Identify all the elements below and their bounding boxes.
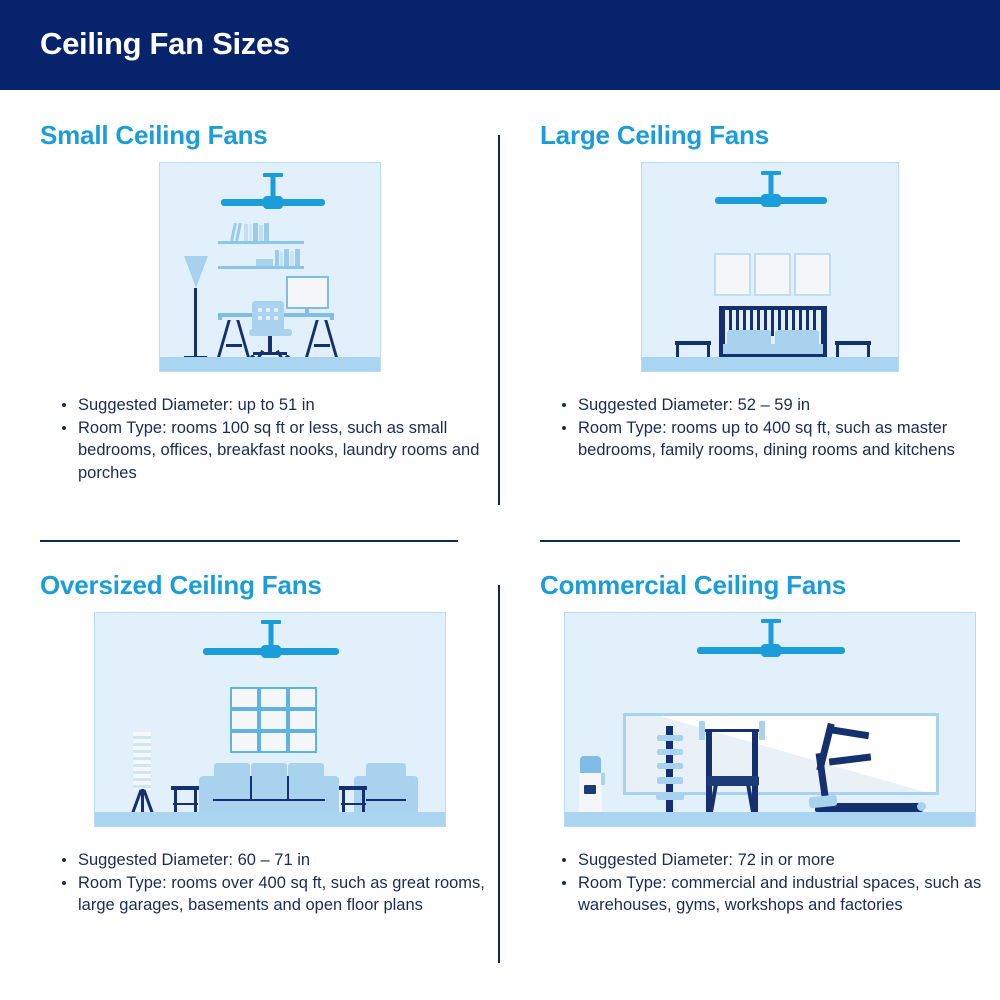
sofa-cushion-divider bbox=[287, 776, 289, 799]
barbell-plate-right bbox=[759, 721, 765, 740]
window-pane bbox=[288, 687, 317, 709]
bullet-item: Suggested Diameter: up to 51 in bbox=[62, 394, 500, 417]
fan-blade-right bbox=[777, 197, 827, 204]
section-title-commercial: Commercial Ceiling Fans bbox=[540, 568, 1000, 602]
side-table-shelf bbox=[341, 803, 366, 805]
fan-blade-right bbox=[277, 648, 339, 655]
ceiling-fan-icon bbox=[218, 173, 328, 213]
floor-strip bbox=[642, 357, 898, 371]
dumbbell bbox=[657, 763, 683, 769]
fan-blade-right bbox=[279, 199, 325, 206]
window-pane bbox=[230, 687, 259, 709]
desk-edge-right bbox=[330, 313, 334, 320]
armchair-arm-right bbox=[404, 776, 418, 814]
bullet-item: Suggested Diameter: 52 – 59 in bbox=[562, 394, 1000, 417]
book bbox=[284, 249, 289, 266]
section-large-ceiling-fans: Large Ceiling Fans bbox=[540, 118, 1000, 462]
ceiling-fan-icon bbox=[203, 620, 339, 664]
dumbbell bbox=[657, 749, 683, 755]
fan-blade-left bbox=[715, 197, 765, 204]
side-table-shelf bbox=[173, 803, 198, 805]
floor-lamp-pole bbox=[194, 288, 197, 359]
floor-strip bbox=[160, 357, 380, 371]
window-pane bbox=[259, 731, 288, 753]
book bbox=[275, 250, 279, 266]
window-pane bbox=[259, 709, 288, 731]
ceiling-fan-icon bbox=[698, 619, 844, 663]
content-grid: Small Ceiling Fans bbox=[0, 90, 1000, 1000]
illustration-wrap-large bbox=[540, 162, 1000, 372]
desk-leg-a-left bbox=[236, 320, 250, 360]
bullet-item: Room Type: rooms over 400 sq ft, such as… bbox=[62, 872, 500, 917]
master-bedroom-room-illustration bbox=[641, 162, 899, 372]
fan-blade-left bbox=[221, 199, 267, 206]
sofa-cushion-back bbox=[214, 763, 250, 790]
desk-leg-a-left bbox=[216, 320, 230, 360]
chair-cylinder bbox=[268, 336, 272, 353]
section-commercial-ceiling-fans: Commercial Ceiling Fans bbox=[540, 568, 1000, 917]
bookshelf-upper bbox=[218, 241, 304, 244]
wall-art-frame bbox=[754, 253, 791, 296]
window-pane bbox=[259, 687, 288, 709]
book bbox=[290, 251, 294, 266]
ceiling-fan-icon bbox=[716, 171, 826, 213]
book bbox=[253, 223, 258, 241]
desk-leg-a-right bbox=[324, 320, 338, 360]
bullet-list-oversized: Suggested Diameter: 60 – 71 in Room Type… bbox=[40, 849, 500, 917]
section-oversized-ceiling-fans: Oversized Ceiling Fans bbox=[40, 568, 500, 917]
desk-leg-a-right bbox=[304, 320, 318, 360]
floor-strip bbox=[565, 812, 975, 826]
book bbox=[244, 224, 248, 241]
page-title: Ceiling Fan Sizes bbox=[40, 26, 290, 62]
water-cooler-bottle bbox=[580, 756, 601, 774]
floor-lamp-shade bbox=[184, 256, 208, 288]
bullet-list-large: Suggested Diameter: 52 – 59 in Room Type… bbox=[540, 394, 1000, 462]
section-title-oversized: Oversized Ceiling Fans bbox=[40, 568, 500, 602]
bed-headboard-slat bbox=[771, 310, 774, 336]
armchair-seat bbox=[366, 789, 406, 814]
page-header: Ceiling Fan Sizes bbox=[0, 0, 1000, 90]
dumbbell bbox=[657, 777, 683, 784]
bullet-item: Suggested Diameter: 72 in or more bbox=[562, 849, 1000, 872]
bench-pad bbox=[707, 776, 759, 786]
armchair-back bbox=[366, 763, 406, 791]
water-cooler-spout bbox=[601, 773, 605, 785]
illustration-wrap-oversized bbox=[40, 612, 500, 827]
dumbbell bbox=[656, 792, 684, 800]
window-pane bbox=[288, 709, 317, 731]
wall-art-frame bbox=[714, 253, 751, 296]
section-title-small: Small Ceiling Fans bbox=[40, 118, 500, 152]
illustration-wrap-commercial bbox=[540, 612, 1000, 827]
section-small-ceiling-fans: Small Ceiling Fans bbox=[40, 118, 500, 484]
water-cooler-body bbox=[579, 773, 602, 816]
floor-lamp-shade bbox=[133, 732, 151, 790]
book bbox=[280, 252, 283, 266]
desk-leg-brace-left bbox=[226, 344, 242, 347]
window-pane bbox=[230, 731, 259, 753]
chair-back-detail bbox=[258, 316, 262, 320]
living-room-room-illustration bbox=[94, 612, 446, 827]
sofa-cushion-back bbox=[251, 763, 287, 790]
chair-back-detail bbox=[258, 308, 262, 312]
illustration-wrap-small bbox=[40, 162, 500, 372]
barbell-plate-left bbox=[699, 721, 705, 740]
gym-room-illustration bbox=[564, 612, 976, 827]
chair-back-detail bbox=[266, 308, 270, 312]
sofa-cushion-divider bbox=[250, 776, 252, 799]
bookshelf-lower bbox=[218, 266, 304, 269]
bullet-item: Suggested Diameter: 60 – 71 in bbox=[62, 849, 500, 872]
book bbox=[264, 223, 269, 241]
book bbox=[295, 249, 300, 266]
horizontal-divider-left bbox=[40, 540, 458, 542]
window-pane bbox=[230, 709, 259, 731]
fan-blade-left bbox=[697, 647, 765, 654]
nightstand-left-top bbox=[675, 341, 711, 345]
bullet-list-small: Suggested Diameter: up to 51 in Room Typ… bbox=[40, 394, 500, 484]
book bbox=[259, 225, 263, 241]
fan-blade-left bbox=[203, 648, 265, 655]
floor-strip bbox=[95, 812, 445, 826]
bullet-item: Room Type: rooms 100 sq ft or less, such… bbox=[62, 417, 500, 485]
armchair-seat-line bbox=[366, 799, 406, 801]
desk-edge-left bbox=[218, 313, 222, 320]
nightstand-right-top bbox=[835, 341, 871, 345]
section-title-large: Large Ceiling Fans bbox=[540, 118, 1000, 152]
home-office-room-illustration bbox=[159, 162, 381, 372]
treadmill-end-cap bbox=[917, 802, 926, 811]
chair-back-detail bbox=[266, 316, 270, 320]
wall-art-frame bbox=[794, 253, 831, 296]
chair-seat bbox=[249, 329, 292, 336]
book-stack bbox=[256, 259, 273, 266]
monitor-screen bbox=[286, 276, 329, 309]
water-cooler-tap bbox=[584, 785, 596, 794]
sofa-seat bbox=[213, 789, 325, 814]
sofa-arm-right bbox=[323, 776, 339, 814]
bullet-list-commercial: Suggested Diameter: 72 in or more Room T… bbox=[540, 849, 1000, 917]
chair-back-detail bbox=[274, 308, 278, 312]
dumbbell bbox=[657, 735, 683, 741]
desk-leg-brace-right bbox=[314, 344, 330, 347]
window-pane bbox=[288, 731, 317, 753]
sofa-seat-line bbox=[213, 799, 325, 801]
book bbox=[249, 224, 252, 241]
bullet-item: Room Type: commercial and industrial spa… bbox=[562, 872, 1000, 917]
sofa-cushion-back bbox=[288, 763, 324, 790]
horizontal-divider-right bbox=[540, 540, 960, 542]
bullet-item: Room Type: rooms up to 400 sq ft, such a… bbox=[562, 417, 1000, 462]
fan-blade-right bbox=[777, 647, 845, 654]
chair-back-detail bbox=[274, 316, 278, 320]
